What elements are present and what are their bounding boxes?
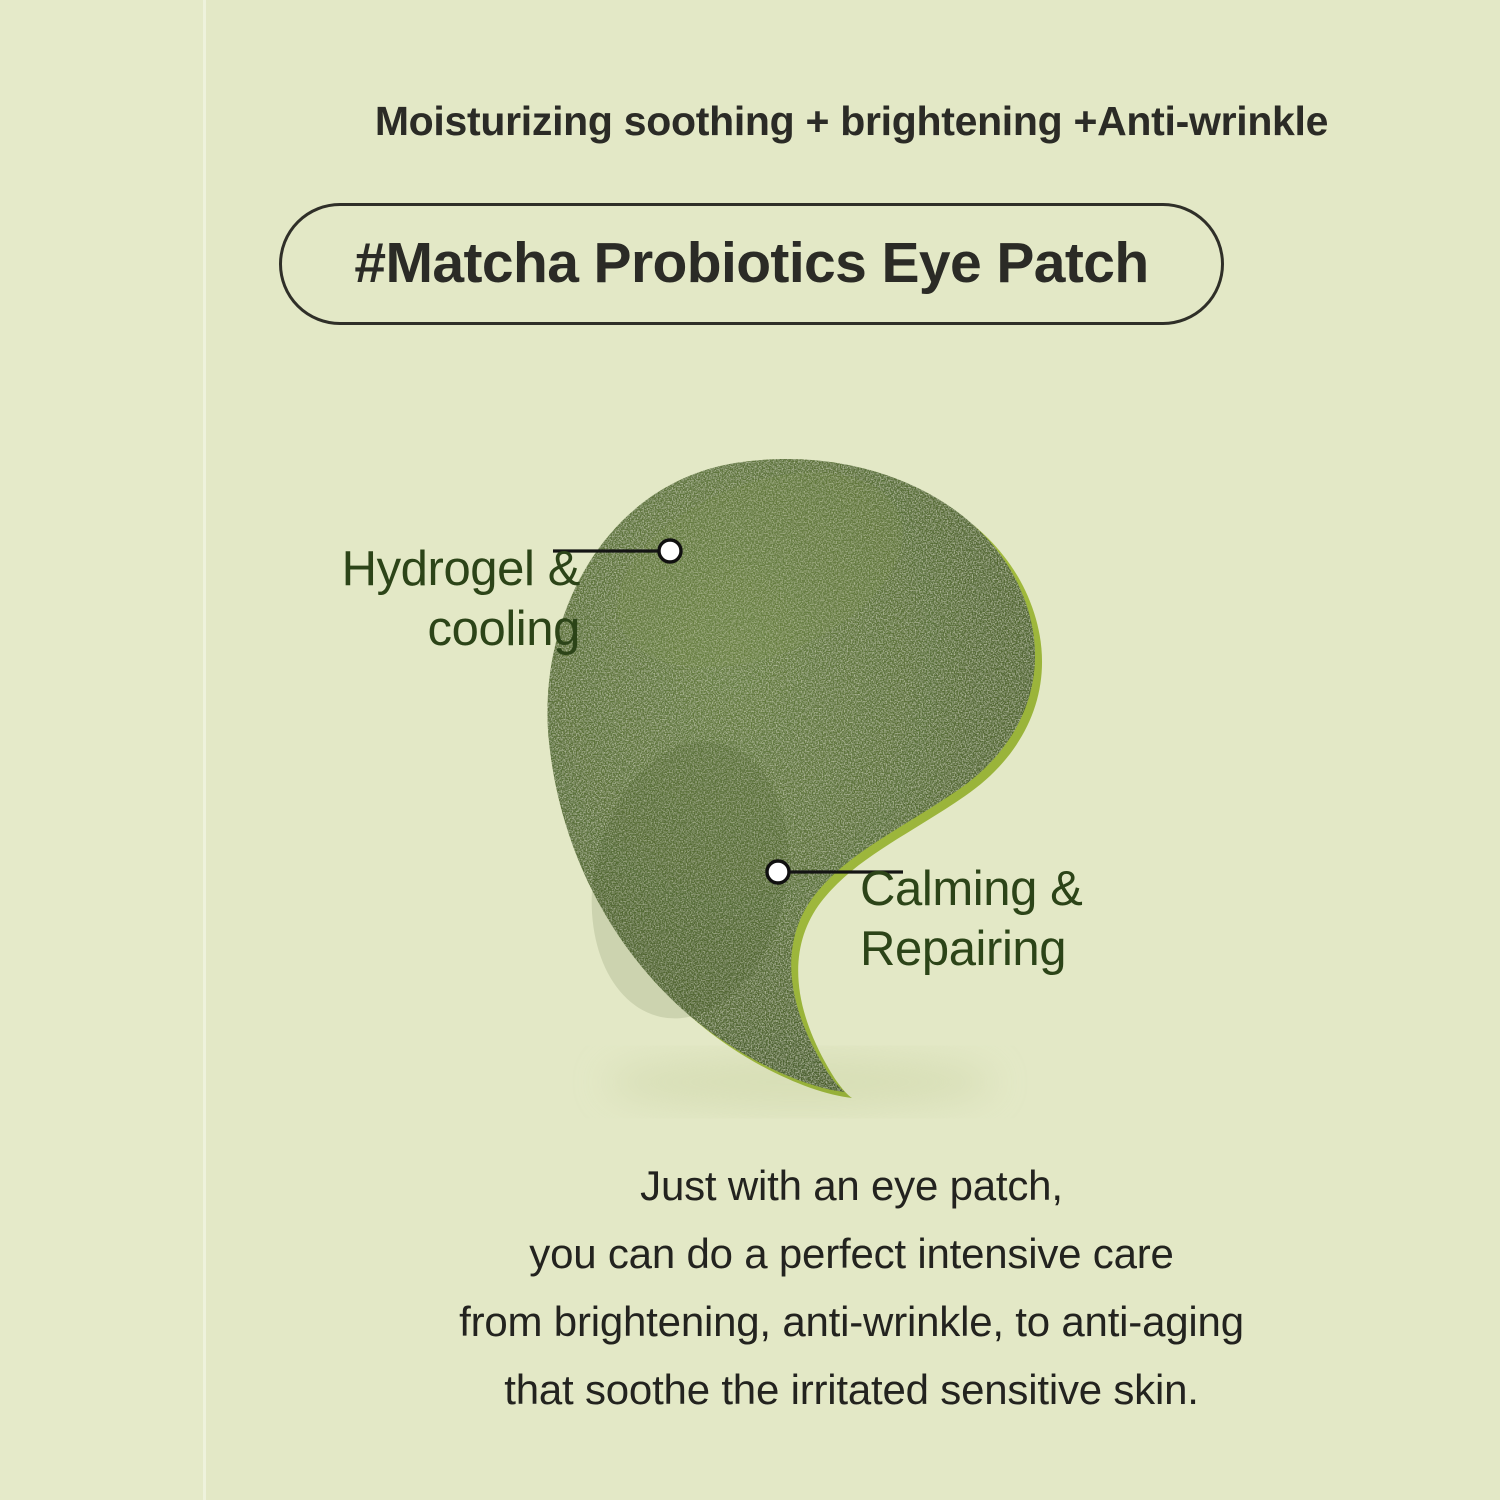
- patch-body: [547, 459, 1035, 1092]
- marker-dot: [659, 540, 681, 562]
- body-line-2: you can do a perfect intensive care: [203, 1220, 1500, 1288]
- marker-dot: [767, 861, 789, 883]
- patch-shadow: [605, 1056, 995, 1108]
- body-line-3: from brightening, anti-wrinkle, to anti-…: [203, 1288, 1500, 1356]
- infographic-page: Moisturizing soothing + brightening +Ant…: [0, 0, 1500, 1500]
- patch-rim: [554, 465, 1042, 1098]
- body-line-4: that soothe the irritated sensitive skin…: [203, 1356, 1500, 1424]
- body-line-1: Just with an eye patch,: [203, 1152, 1500, 1220]
- annotation-hydrogel-cooling: Hydrogel & cooling: [180, 540, 580, 660]
- body-copy: Just with an eye patch, you can do a per…: [203, 1152, 1500, 1424]
- title-pill-container: #Matcha Probiotics Eye Patch: [279, 203, 1224, 325]
- product-title: #Matcha Probiotics Eye Patch: [354, 230, 1148, 296]
- left-margin-panel: [0, 0, 203, 1500]
- annotation-calming-repairing: Calming & Repairing: [860, 860, 1270, 980]
- tagline-text: Moisturizing soothing + brightening +Ant…: [203, 98, 1500, 145]
